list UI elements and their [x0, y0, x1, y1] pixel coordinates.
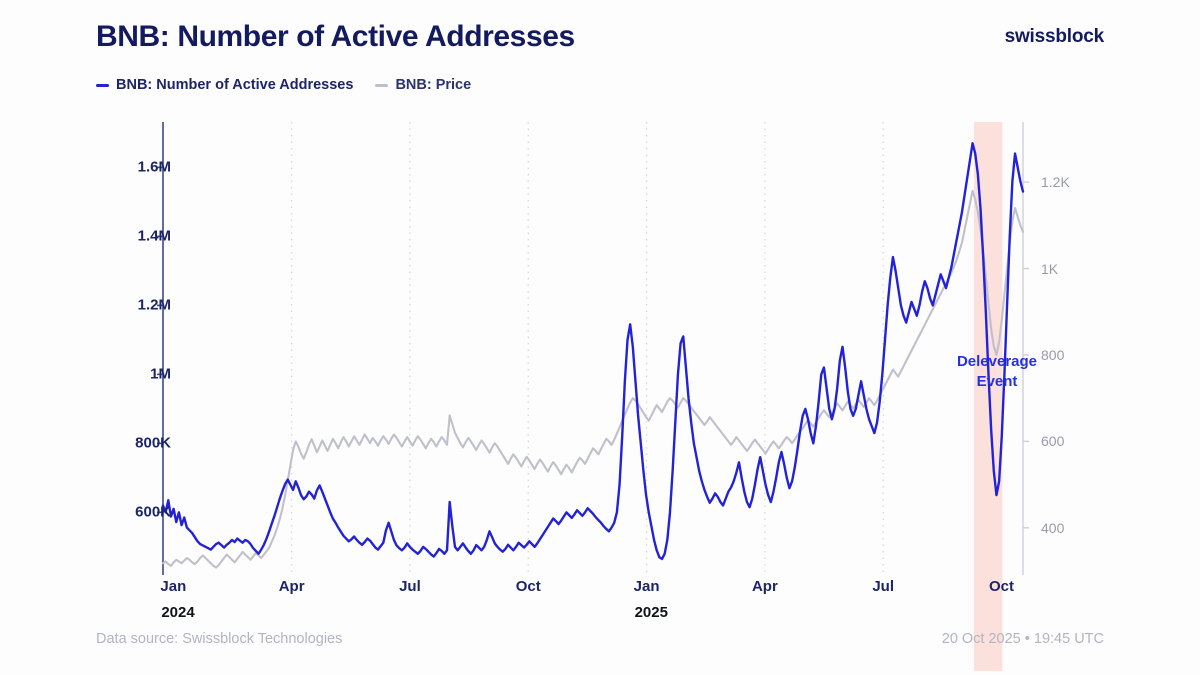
legend-item-addresses[interactable]: BNB: Number of Active Addresses: [96, 77, 353, 93]
legend-label-addresses: BNB: Number of Active Addresses: [116, 77, 353, 93]
y-axis-left-tick-label: 1.2M: [138, 297, 171, 314]
x-axis-tick-label: Jan: [634, 578, 660, 595]
deleverage-event-annotation: Deleverage Event: [941, 352, 1053, 392]
legend-item-price[interactable]: BNB: Price: [375, 77, 471, 93]
y-axis-left-tick-label: 1M: [150, 366, 171, 383]
y-axis-right-tick-label: 600: [1041, 433, 1064, 449]
price-series-line: [163, 191, 1023, 568]
chart-header: BNB: Number of Active Addresses swissblo…: [96, 14, 1104, 60]
axis-lines: [163, 122, 1023, 575]
y-axis-right-tick-label: 1.2K: [1041, 174, 1070, 190]
y-axis-right-tick-label: 400: [1041, 520, 1064, 536]
x-axis-tick-label: Apr: [752, 578, 778, 595]
annotation-line-1: Deleverage: [941, 352, 1053, 372]
page-title: BNB: Number of Active Addresses: [96, 14, 1104, 60]
x-axis-year-label: 2024: [161, 604, 194, 621]
chart-legend: BNB: Number of Active Addresses BNB: Pri…: [96, 74, 471, 96]
x-axis-tick-label: Oct: [516, 578, 541, 595]
addresses-series-line: [163, 143, 1023, 559]
y-axis-left-tick-label: 1.6M: [138, 159, 171, 176]
chart-footer: Data source: Swissblock Technologies 20 …: [96, 628, 1104, 650]
x-axis-tick-label: Oct: [989, 578, 1014, 595]
x-axis-tick-label: Jul: [872, 578, 894, 595]
x-axis-tick-label: Jan: [160, 578, 186, 595]
plot-svg: [163, 126, 1023, 571]
y-axis-left-tick-label: 1.4M: [138, 228, 171, 245]
y-axis-left-tick-label: 600K: [135, 504, 171, 521]
brand-logo: swissblock: [1005, 14, 1104, 60]
x-axis-tick-label: Apr: [279, 578, 305, 595]
grid-lines: [292, 122, 1002, 575]
x-axis-tick-label: Jul: [399, 578, 421, 595]
data-source-label: Data source: Swissblock Technologies: [96, 628, 342, 650]
legend-swatch-addresses: [96, 84, 109, 87]
legend-label-price: BNB: Price: [395, 77, 471, 93]
y-axis-left-tick-label: 800K: [135, 435, 171, 452]
annotation-line-2: Event: [941, 372, 1053, 392]
plot-area: [163, 126, 1023, 571]
axis-ticks: [157, 167, 1029, 527]
x-axis-year-label: 2025: [635, 604, 668, 621]
y-axis-right-tick-label: 1K: [1041, 261, 1058, 277]
legend-swatch-price: [375, 84, 388, 87]
chart-card: BNB: Number of Active Addresses swissblo…: [0, 0, 1200, 675]
timestamp-label: 20 Oct 2025 • 19:45 UTC: [942, 628, 1104, 650]
